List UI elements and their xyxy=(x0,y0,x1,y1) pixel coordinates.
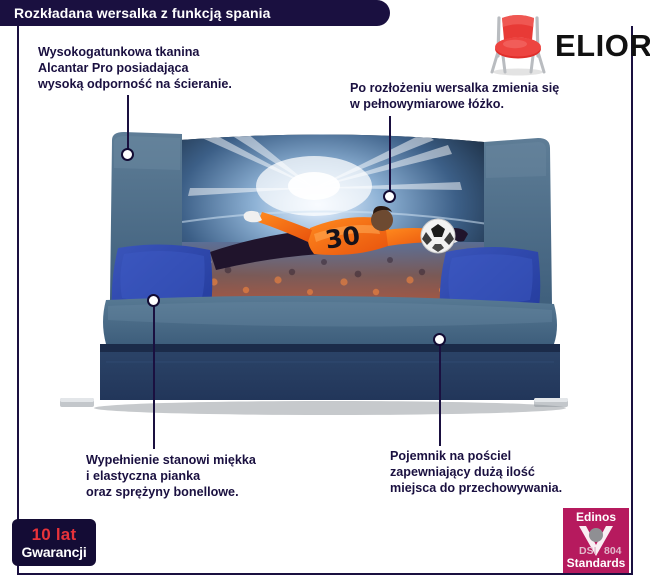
callout-dot-storage[interactable] xyxy=(433,333,446,346)
title-bar: Rozkładana wersalka z funkcją spania xyxy=(0,0,390,26)
red-chair-icon xyxy=(487,12,549,78)
callout-text-storage: Pojemnik na pościel zapewniający dużą il… xyxy=(390,448,562,496)
svg-text:30: 30 xyxy=(323,221,362,255)
infographic-root: Rozkładana wersalka z funkcją spania ELI… xyxy=(0,0,650,580)
brand-name: ELIOR xyxy=(555,30,650,61)
brand-logo: ELIOR xyxy=(487,11,637,79)
callout-connector-storage xyxy=(439,340,441,446)
product-image-sofa: 30 xyxy=(14,130,636,430)
callout-connector-fabric xyxy=(127,95,129,155)
callout-dot-filling[interactable] xyxy=(147,294,160,307)
callout-text-unfolding: Po rozłożeniu wersalka zmienia się w peł… xyxy=(350,80,559,112)
callout-text-fabric: Wysokogatunkowa tkanina Alcantar Pro pos… xyxy=(38,44,232,92)
callout-connector-filling xyxy=(153,301,155,449)
warranty-badge: 10 lat Gwarancji xyxy=(12,519,96,566)
standards-label: Standards xyxy=(567,556,626,570)
callout-dot-unfolding[interactable] xyxy=(383,190,396,203)
warranty-label: Gwarancji xyxy=(21,544,86,560)
frame-border-bottom xyxy=(17,573,633,575)
warranty-years: 10 lat xyxy=(32,526,77,544)
standards-brand: Edinos xyxy=(576,510,616,524)
callout-text-filling: Wypełnienie stanowi miękka i elastyczna … xyxy=(86,452,256,500)
callout-connector-unfolding xyxy=(389,116,391,196)
callout-dot-fabric[interactable] xyxy=(121,148,134,161)
page-title: Rozkładana wersalka z funkcją spania xyxy=(0,5,270,21)
standards-badge: Edinos DSI 804 Standards xyxy=(563,508,629,573)
